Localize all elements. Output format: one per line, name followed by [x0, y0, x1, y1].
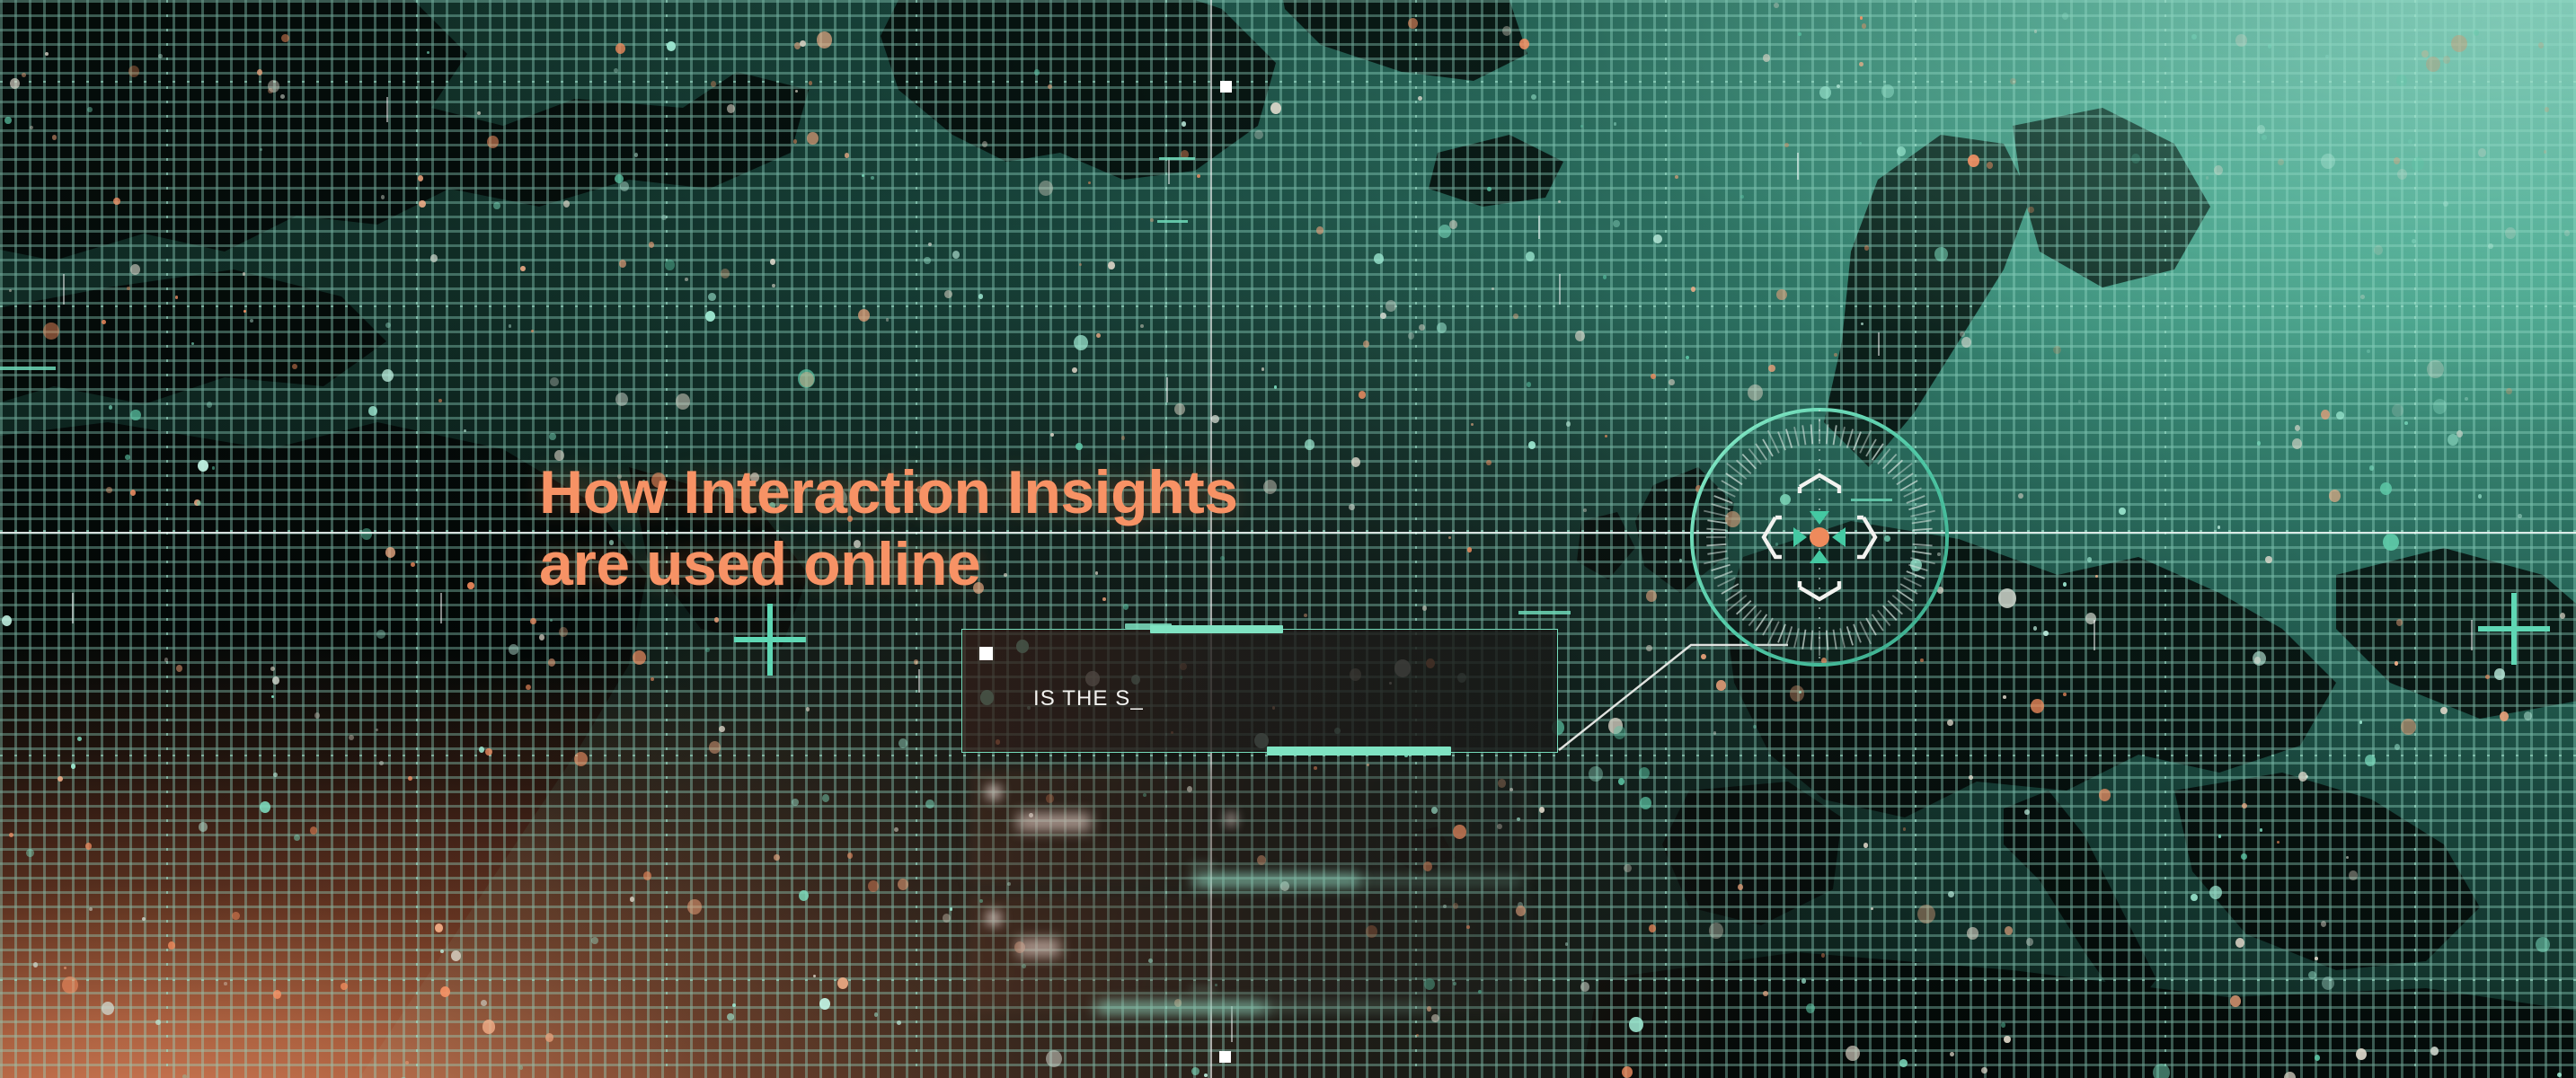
square-marker-icon	[1220, 81, 1232, 93]
data-point-dot	[2360, 295, 2365, 299]
data-point-dot	[1519, 39, 1529, 49]
data-point-dot	[822, 794, 829, 802]
suggestion-divider	[1191, 988, 1214, 991]
data-point-dot	[539, 634, 544, 641]
data-point-dot	[4, 117, 12, 124]
data-point-dot	[419, 200, 426, 208]
data-point-dot	[2004, 1036, 2011, 1043]
data-point-dot	[2298, 772, 2307, 782]
data-point-dot	[194, 499, 200, 506]
data-point-dot	[2095, 575, 2098, 578]
data-point-dot	[2349, 870, 2358, 880]
data-point-dot	[197, 500, 201, 506]
data-point-dot	[2003, 695, 2006, 699]
data-point-dot	[243, 272, 245, 276]
data-point-dot	[2538, 42, 2544, 49]
data-point-dot	[2053, 346, 2061, 354]
data-point-dot	[898, 879, 908, 890]
data-point-dot	[1776, 289, 1787, 300]
data-point-dot	[2153, 1064, 2170, 1078]
data-point-dot	[2033, 626, 2037, 631]
data-point-dot	[1967, 927, 1978, 940]
data-point-dot	[405, 1061, 409, 1065]
data-point-dot	[1934, 247, 1948, 261]
data-point-dot	[1304, 614, 1307, 617]
data-point-dot	[243, 310, 246, 313]
data-point-dot	[530, 618, 536, 624]
data-point-dot	[1487, 187, 1492, 191]
data-point-dot	[376, 630, 385, 639]
data-point-dot	[2397, 169, 2407, 180]
data-point-dot	[1622, 1066, 1633, 1078]
data-point-dot	[899, 738, 907, 748]
data-point-dot	[232, 912, 240, 920]
data-point-dot	[1121, 436, 1125, 440]
data-point-dot	[382, 369, 394, 382]
data-point-dot	[1605, 435, 1607, 437]
data-point-dot	[2206, 176, 2209, 180]
data-point-dot	[294, 835, 300, 841]
data-point-dot	[2295, 425, 2300, 431]
data-point-dot	[2329, 490, 2341, 502]
ruler-tick	[72, 593, 74, 623]
ruler-tick	[63, 274, 65, 305]
data-point-dot	[2277, 841, 2279, 844]
data-point-dot	[2560, 613, 2565, 619]
suggestion-label	[1017, 813, 1091, 831]
data-point-dot	[2356, 1048, 2367, 1060]
data-point-dot	[687, 899, 702, 915]
data-point-dot	[1088, 181, 1091, 184]
data-point-dot	[2217, 526, 2220, 529]
data-point-dot	[545, 1033, 553, 1042]
data-point-dot	[2306, 775, 2308, 778]
ruler-tick	[1878, 332, 1880, 356]
data-point-dot	[1981, 1067, 1987, 1074]
data-point-dot	[2544, 150, 2546, 154]
data-point-dot	[1651, 374, 1656, 379]
data-point-dot	[813, 975, 816, 977]
data-point-dot	[894, 827, 899, 832]
data-point-dot	[273, 990, 281, 999]
data-point-dot	[168, 941, 175, 950]
data-point-dot	[2374, 245, 2383, 255]
data-point-dot	[2284, 1072, 2296, 1078]
data-point-dot	[886, 318, 889, 322]
data-point-dot	[705, 648, 710, 652]
data-point-dot	[1998, 588, 2016, 608]
data-point-dot	[1653, 234, 1662, 243]
data-point-dot	[272, 676, 279, 685]
data-point-dot	[1050, 433, 1054, 437]
data-point-dot	[2214, 165, 2223, 175]
data-point-dot	[2408, 139, 2412, 144]
data-point-dot	[175, 296, 178, 299]
data-point-dot	[708, 293, 716, 301]
data-point-dot	[795, 90, 798, 93]
data-point-dot	[1618, 778, 1624, 785]
data-point-dot	[349, 735, 354, 740]
data-point-dot	[1819, 86, 1831, 99]
data-point-dot	[2018, 493, 2023, 499]
data-point-dot	[1837, 84, 1840, 88]
suggestion-accent-bar	[1360, 877, 1522, 885]
data-point-dot	[794, 42, 801, 49]
data-point-dot	[1679, 559, 1682, 562]
data-point-dot	[1254, 130, 1263, 139]
data-point-dot	[268, 80, 279, 93]
data-point-dot	[711, 81, 716, 87]
data-point-dot	[2485, 675, 2490, 679]
ruler-tick	[1166, 377, 1168, 402]
data-point-dot	[520, 266, 526, 271]
data-point-dot	[1072, 367, 1077, 373]
data-point-dot	[858, 309, 870, 322]
data-point-dot	[212, 466, 215, 470]
data-point-dot	[1182, 121, 1186, 127]
data-point-dot	[1860, 16, 1863, 20]
data-point-dot	[1419, 324, 1425, 331]
data-point-dot	[2043, 631, 2049, 636]
data-point-dot	[2336, 411, 2344, 420]
grid-line-vertical	[2414, 0, 2416, 1078]
data-point-dot	[281, 34, 289, 42]
data-point-dot	[868, 880, 879, 892]
data-point-dot	[2235, 34, 2247, 47]
data-point-dot	[411, 562, 415, 567]
data-point-dot	[705, 311, 715, 322]
page-title: How Interaction Insights are used online	[539, 456, 1527, 600]
data-point-dot	[1801, 978, 1806, 984]
data-point-dot	[721, 269, 730, 278]
data-point-dot	[1629, 1017, 1643, 1032]
data-point-dot	[817, 31, 832, 49]
ruler-tick	[1559, 274, 1561, 305]
data-point-dot	[509, 644, 518, 655]
data-point-dot	[2119, 508, 2126, 515]
data-point-dot	[2026, 938, 2033, 946]
data-point-dot	[1408, 332, 1414, 340]
data-point-dot	[155, 1020, 161, 1025]
data-point-dot	[1763, 54, 1770, 62]
data-point-dot	[1140, 324, 1144, 328]
data-point-dot	[127, 287, 130, 290]
data-point-dot	[440, 950, 444, 953]
data-point-dot	[292, 364, 297, 369]
data-point-dot	[1492, 287, 1494, 290]
data-point-dot	[2404, 421, 2408, 425]
data-point-dot	[643, 871, 651, 880]
data-point-dot	[33, 962, 38, 968]
data-point-dot	[2478, 148, 2486, 157]
data-point-dot	[732, 1003, 736, 1007]
data-point-dot	[1806, 1003, 1815, 1013]
ruler-tick	[1797, 153, 1799, 180]
data-point-dot	[1150, 218, 1154, 222]
search-bottom-accent	[1267, 747, 1451, 755]
data-point-dot	[1174, 403, 1185, 415]
data-point-dot	[2063, 582, 2067, 587]
data-point-dot	[2401, 719, 2416, 735]
data-point-dot	[651, 677, 654, 681]
data-point-dot	[191, 342, 194, 345]
data-point-dot	[9, 833, 13, 837]
data-point-dot	[1513, 314, 1518, 319]
data-point-dot	[519, 1065, 523, 1070]
data-point-dot	[2321, 154, 2335, 169]
data-point-dot	[2506, 388, 2512, 394]
data-point-dot	[1589, 766, 1603, 782]
data-point-dot	[2, 615, 12, 626]
data-point-dot	[800, 40, 806, 47]
data-point-dot	[481, 1000, 487, 1006]
data-point-dot	[614, 68, 618, 73]
data-point-dot	[897, 1021, 901, 1025]
data-point-dot	[619, 260, 626, 268]
data-point-dot	[862, 174, 864, 177]
data-point-dot	[809, 81, 812, 85]
data-point-dot	[2557, 1073, 2562, 1077]
ruler-dash	[0, 367, 56, 370]
search-query-text: IS THE S_	[1033, 686, 1144, 711]
data-point-dot	[2257, 441, 2261, 446]
data-point-dot	[714, 617, 719, 623]
data-point-dot	[477, 111, 481, 115]
data-point-dot	[1197, 174, 1200, 178]
data-point-dot	[2034, 30, 2037, 33]
data-point-dot	[2524, 711, 2532, 720]
data-point-dot	[164, 658, 168, 662]
data-point-dot	[1709, 923, 1723, 939]
data-point-dot	[1437, 323, 1447, 333]
data-point-dot	[361, 528, 372, 540]
data-point-dot	[341, 983, 348, 990]
ruler-tick	[1538, 216, 1540, 239]
data-point-dot	[1859, 62, 1863, 66]
data-point-dot	[2257, 125, 2265, 134]
data-point-dot	[1374, 253, 1384, 264]
data-point-dot	[2396, 75, 2407, 86]
data-point-dot	[1580, 125, 1583, 128]
data-point-dot	[943, 914, 951, 923]
data-point-dot	[1471, 423, 1474, 426]
data-point-dot	[2005, 926, 2013, 935]
ruler-tick	[2094, 620, 2095, 650]
data-point-dot	[1076, 443, 1083, 450]
data-point-dot	[2545, 107, 2549, 112]
data-point-dot	[58, 776, 63, 782]
data-point-dot	[1897, 146, 1906, 156]
data-point-dot	[10, 78, 20, 89]
data-point-dot	[1846, 1046, 1860, 1061]
data-point-dot	[64, 967, 66, 969]
data-point-dot	[798, 369, 815, 388]
data-point-dot	[950, 907, 952, 911]
data-point-dot	[435, 923, 443, 932]
data-point-dot	[418, 175, 423, 181]
grid-line-vertical	[166, 0, 168, 1078]
data-point-dot	[224, 982, 227, 985]
ruler-tick	[440, 593, 442, 623]
data-point-dot	[1558, 200, 1561, 203]
data-point-dot	[874, 1012, 878, 1017]
data-point-dot	[2315, 1055, 2320, 1061]
data-point-dot	[982, 141, 987, 147]
suggestion-accent-bar	[1193, 874, 1360, 887]
targeting-reticle	[1685, 402, 1954, 672]
data-point-dot	[799, 890, 809, 901]
data-point-dot	[549, 433, 556, 440]
data-point-dot	[1526, 252, 1535, 261]
data-point-dot	[1675, 175, 1678, 179]
data-point-dot	[793, 139, 797, 144]
data-point-dot	[1862, 23, 1866, 29]
data-point-dot	[479, 747, 484, 753]
data-point-dot	[727, 1013, 734, 1021]
data-point-dot	[1123, 604, 1129, 610]
data-point-dot	[2131, 154, 2140, 163]
data-point-dot	[1859, 142, 1862, 145]
data-point-dot	[649, 242, 654, 248]
data-point-dot	[1947, 720, 1953, 726]
ruler-tick	[1168, 157, 1170, 184]
data-point-dot	[142, 917, 146, 921]
data-point-dot	[438, 399, 442, 402]
data-point-dot	[1691, 287, 1695, 292]
hero-banner: How Interaction Insights are used online…	[0, 0, 2576, 1078]
data-point-dot	[2421, 50, 2429, 57]
ruler-tick	[386, 97, 388, 122]
data-point-dot	[1669, 379, 1675, 385]
data-point-dot	[2518, 514, 2522, 518]
data-point-dot	[1316, 226, 1323, 234]
data-point-dot	[2218, 835, 2221, 838]
data-point-dot	[487, 136, 499, 148]
data-point-dot	[2278, 159, 2284, 165]
data-point-dot	[1502, 26, 1511, 36]
data-point-dot	[464, 429, 466, 432]
data-point-dot	[1575, 331, 1585, 341]
data-point-dot	[257, 69, 262, 75]
data-point-dot	[2396, 619, 2403, 626]
data-point-dot	[381, 195, 385, 199]
data-point-dot	[676, 393, 690, 410]
data-point-dot	[128, 66, 139, 77]
data-point-dot	[1686, 356, 1689, 359]
data-point-dot	[1074, 335, 1088, 350]
grid-line-vertical	[416, 0, 418, 1078]
data-point-dot	[2369, 465, 2374, 471]
data-point-dot	[2359, 720, 2362, 724]
data-point-dot	[440, 986, 450, 997]
data-point-dot	[1079, 263, 1082, 266]
data-point-dot	[2443, 56, 2450, 64]
suggestion-accent-bar	[1096, 1002, 1267, 1013]
crosshair-marker-right	[2478, 593, 2550, 665]
data-point-dot	[1449, 220, 1457, 229]
data-point-dot	[1871, 907, 1873, 910]
data-point-dot	[1305, 439, 1315, 450]
data-point-dot	[2024, 809, 2030, 815]
data-point-dot	[2505, 227, 2516, 239]
suggestion-dot-icon	[1226, 813, 1235, 826]
data-point-dot	[2451, 35, 2467, 52]
data-point-dot	[1270, 102, 1281, 114]
data-point-dot	[2456, 430, 2463, 437]
data-point-dot	[1950, 1052, 1954, 1056]
data-point-dot	[2265, 556, 2272, 563]
data-point-dot	[2099, 789, 2111, 801]
data-point-dot	[2031, 699, 2044, 713]
data-point-dot	[615, 43, 625, 54]
data-point-dot	[1363, 340, 1369, 348]
data-point-dot	[2395, 744, 2400, 750]
data-point-dot	[1108, 261, 1115, 269]
data-point-dot	[2395, 661, 2398, 666]
data-point-dot	[770, 259, 775, 265]
data-point-dot	[379, 761, 384, 765]
data-point-dot	[1528, 441, 1536, 449]
data-point-dot	[574, 752, 588, 766]
data-point-dot	[2321, 921, 2326, 927]
data-point-dot	[1961, 337, 1971, 348]
data-point-dot	[1864, 245, 1869, 251]
data-point-dot	[2010, 78, 2016, 84]
data-point-dot	[376, 729, 378, 731]
data-point-dot	[30, 126, 33, 129]
data-point-dot	[1418, 96, 1422, 101]
data-point-dot	[310, 826, 317, 835]
data-point-dot	[2365, 755, 2376, 766]
data-point-dot	[2254, 657, 2261, 664]
data-point-dot	[772, 284, 775, 287]
data-point-dot	[485, 748, 492, 755]
data-point-dot	[2383, 534, 2399, 551]
data-point-dot	[102, 1002, 114, 1015]
data-point-dot	[1798, 32, 1801, 36]
data-point-dot	[250, 319, 253, 323]
data-point-dot	[914, 659, 918, 665]
data-point-dot	[2241, 853, 2247, 860]
data-point-dot	[368, 406, 377, 416]
data-point-dot	[2392, 404, 2403, 417]
data-point-dot	[2500, 711, 2509, 721]
data-point-dot	[2564, 230, 2570, 236]
data-point-dot	[2474, 30, 2479, 36]
data-point-dot	[2427, 360, 2444, 378]
data-point-dot	[106, 487, 112, 493]
data-point-dot	[199, 822, 208, 832]
data-point-dot	[2367, 349, 2370, 353]
suggestion-marker-icon	[987, 911, 1001, 925]
data-point-dot	[1881, 84, 1894, 98]
data-point-dot	[634, 153, 638, 157]
data-point-dot	[2242, 803, 2247, 808]
data-point-dot	[430, 254, 438, 262]
data-point-dot	[2494, 668, 2505, 680]
data-point-dot	[1624, 864, 1632, 872]
data-point-dot	[130, 410, 141, 420]
data-point-dot	[125, 455, 130, 460]
data-point-dot	[2325, 55, 2329, 58]
data-point-dot	[615, 174, 624, 183]
data-point-dot	[1903, 827, 1906, 831]
data-point-dot	[2001, 1022, 2005, 1028]
data-point-dot	[620, 181, 629, 191]
data-point-dot	[661, 215, 667, 220]
data-point-dot	[978, 294, 983, 299]
data-point-dot	[871, 176, 874, 180]
